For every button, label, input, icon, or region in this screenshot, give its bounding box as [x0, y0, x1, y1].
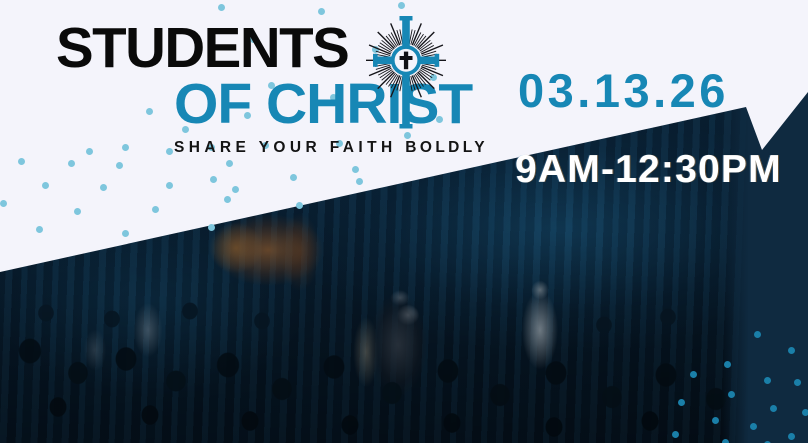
decorative-dot [788, 347, 795, 354]
decorative-dot [794, 379, 801, 386]
decorative-dot [224, 196, 231, 203]
decorative-dot [232, 186, 239, 193]
decorative-dot [116, 162, 123, 169]
decorative-dot [290, 174, 297, 181]
decorative-dot [764, 377, 771, 384]
decorative-dot [296, 202, 303, 209]
decorative-dot [802, 409, 808, 416]
event-time: 9AM-12:30PM [515, 148, 782, 192]
decorative-dot-field-right [668, 313, 808, 443]
decorative-dot [218, 4, 225, 11]
decorative-dot [226, 160, 233, 167]
decorative-dot [36, 226, 43, 233]
decorative-dot [68, 160, 75, 167]
decorative-dot [678, 399, 685, 406]
decorative-dot [74, 208, 81, 215]
decorative-dot [750, 423, 757, 430]
decorative-dot [728, 391, 735, 398]
decorative-dot [100, 184, 107, 191]
decorative-dot [398, 2, 405, 9]
decorative-dot [42, 182, 49, 189]
decorative-dot [770, 405, 777, 412]
decorative-dot [712, 417, 719, 424]
decorative-dot [352, 166, 359, 173]
logo-tagline: SHARE YOUR FAITH BOLDLY [174, 139, 486, 157]
decorative-dot [724, 361, 731, 368]
decorative-dot [788, 433, 795, 440]
decorative-dot [18, 158, 25, 165]
event-banner: STUDENTS OF CHRIST SHARE YOUR FAITH BOLD… [0, 0, 808, 443]
decorative-dot [318, 8, 325, 15]
event-date: 03.13.26 [518, 63, 729, 118]
decorative-dot [356, 178, 363, 185]
tagline-bold-text: BOLDLY [405, 139, 488, 156]
decorative-dot [152, 206, 159, 213]
decorative-dot [210, 176, 217, 183]
decorative-dot [0, 200, 7, 207]
decorative-dot [690, 371, 697, 378]
decorative-dot [722, 439, 729, 443]
monstrance-cross-starburst-icon [358, 12, 454, 130]
decorative-dot [672, 431, 679, 438]
decorative-dot [754, 331, 761, 338]
tagline-regular-text: SHARE YOUR FAITH [174, 139, 405, 156]
decorative-dot [208, 224, 215, 231]
decorative-dot [122, 230, 129, 237]
decorative-dot [166, 182, 173, 189]
